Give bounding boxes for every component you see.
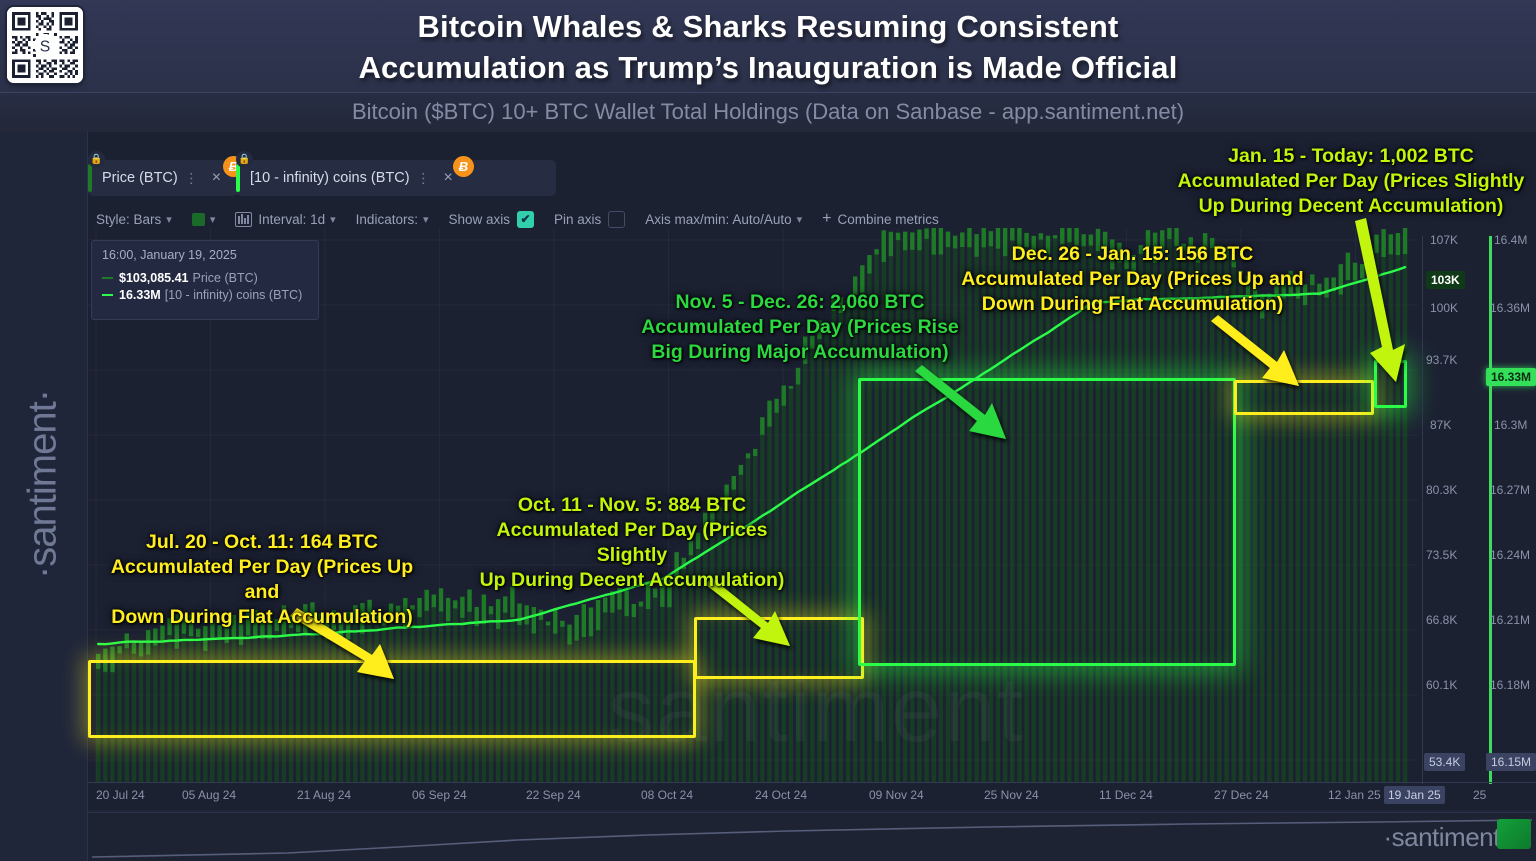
metric-current-value: 16.33M [1486, 368, 1536, 386]
tab-10-infinity-coins[interactable]: 🔒 [10 - infinity) coins (BTC) … × [236, 160, 556, 196]
price-tick: 93.7K [1426, 353, 1457, 367]
x-tick-highlight: 19 Jan 25 [1384, 786, 1445, 804]
tooltip-date: 16:00, January 19, 2025 [102, 248, 308, 262]
x-tick: 21 Aug 24 [297, 788, 351, 802]
show-axis-toggle[interactable]: Show axis ✔ [448, 211, 534, 228]
x-tick: 27 Dec 24 [1214, 788, 1269, 802]
combine-metrics-button[interactable]: + Combine metrics [822, 210, 939, 228]
annotation-jan-today: Jan. 15 - Today: 1,002 BTC Accumulated P… [1176, 144, 1526, 219]
metric-tick: 16.21M [1490, 613, 1530, 627]
tab-close-icon[interactable]: × [444, 169, 453, 187]
brush-sparkline [88, 813, 1536, 861]
x-tick: 20 Jul 24 [96, 788, 145, 802]
color-selector[interactable]: ▾ [192, 213, 216, 226]
chevron-down-icon: ▾ [210, 213, 216, 226]
price-tick: 66.8K [1426, 613, 1457, 627]
price-axis[interactable]: 107K 103K 100K 93.7K 87K 80.3K 73.5K 66.… [1424, 228, 1472, 788]
metric-tick: 16.3M [1494, 418, 1527, 432]
x-tick: 06 Sep 24 [412, 788, 467, 802]
tab-label: Price (BTC) [102, 170, 178, 186]
style-selector[interactable]: Style: Bars ▾ [96, 212, 172, 227]
metric-axis-min: 16.15M [1486, 753, 1536, 771]
x-axis[interactable]: 20 Jul 24 05 Aug 24 21 Aug 24 06 Sep 24 … [88, 782, 1536, 810]
highlight-box-jan-today [1374, 360, 1407, 408]
show-axis-label: Show axis [448, 212, 510, 227]
metric-tick: 16.4M [1494, 233, 1527, 247]
x-tick: 05 Aug 24 [182, 788, 236, 802]
tab-label: [10 - infinity) coins (BTC) [250, 170, 410, 186]
tooltip-value: $103,085.41 [119, 271, 189, 285]
price-tick: 60.1K [1426, 678, 1457, 692]
tab-color-stripe [236, 164, 240, 192]
price-tick: 73.5K [1426, 548, 1457, 562]
metric-tick: 16.18M [1490, 678, 1530, 692]
price-axis-min: 53.4K [1424, 753, 1465, 771]
metric-axis[interactable]: 16.4M 16.36M 16.33M 16.3M 16.27M 16.24M … [1482, 228, 1536, 788]
range-brush[interactable] [88, 812, 1536, 861]
metric-tick: 16.24M [1490, 548, 1530, 562]
chart-toolbar: Style: Bars ▾ ▾ Interval: 1d ▾ Indicator… [96, 208, 959, 230]
chevron-down-icon: ▾ [166, 213, 172, 226]
highlight-box-nov-dec [858, 378, 1236, 666]
tooltip-value: 16.33M [119, 288, 161, 302]
price-axis-line [1422, 236, 1423, 784]
tooltip-series-name: Price (BTC) [193, 271, 258, 285]
tab-close-icon[interactable]: × [212, 169, 221, 187]
annotation-dec-jan: Dec. 26 - Jan. 15: 156 BTC Accumulated P… [960, 242, 1305, 317]
price-current-value: 103K [1426, 271, 1465, 289]
x-tick: 12 Jan 25 [1328, 788, 1381, 802]
metric-tick: 16.36M [1490, 301, 1530, 315]
pin-axis-toggle[interactable]: Pin axis [554, 211, 625, 228]
page-title-line2: Accumulation as Trump’s Inauguration is … [0, 47, 1536, 88]
chevron-down-icon: ▾ [330, 213, 336, 226]
left-rail: ·santiment· [0, 132, 88, 861]
metric-tick: 16.27M [1490, 483, 1530, 497]
annotation-jul-oct: Jul. 20 - Oct. 11: 164 BTC Accumulated P… [92, 530, 432, 630]
highlight-box-oct-nov [694, 617, 864, 679]
interval-selector[interactable]: Interval: 1d ▾ [235, 212, 335, 227]
color-swatch-icon [192, 213, 205, 226]
checkbox-checked-icon[interactable]: ✔ [517, 211, 534, 228]
highlight-box-dec-jan [1234, 380, 1374, 415]
x-tick-trailing: 25 [1473, 788, 1486, 802]
tab-price-btc[interactable]: 🔒 Price (BTC) … × [88, 160, 238, 196]
plus-icon: + [822, 210, 831, 228]
x-tick: 25 Nov 24 [984, 788, 1039, 802]
series-color-dash [102, 294, 113, 296]
bar-chart-icon [235, 212, 252, 227]
santiment-watermark-left: ·santiment· [21, 320, 66, 650]
axis-minmax-label: Axis max/min: Auto/Auto [645, 212, 791, 227]
indicators-selector[interactable]: Indicators: ▾ [356, 212, 429, 227]
x-tick: 22 Sep 24 [526, 788, 581, 802]
indicators-label: Indicators: [356, 212, 418, 227]
screenshot-root: Bitcoin Whales & Sharks Resuming Consist… [0, 0, 1536, 861]
chevron-down-icon: ▾ [423, 213, 429, 226]
price-tick: 100K [1430, 301, 1458, 315]
lock-icon: 🔒 [88, 151, 105, 168]
svg-text:S: S [40, 39, 50, 56]
qr-code-icon[interactable]: S [7, 7, 83, 83]
interval-label: Interval: 1d [258, 212, 325, 227]
chevron-down-icon: ▾ [797, 213, 803, 226]
page-title-line1: Bitcoin Whales & Sharks Resuming Consist… [0, 6, 1536, 47]
price-tick: 87K [1430, 418, 1451, 432]
tooltip-series-name: [10 - infinity) coins (BTC) [165, 288, 303, 302]
price-tick: 80.3K [1426, 483, 1457, 497]
x-tick: 11 Dec 24 [1099, 788, 1153, 802]
lock-icon: 🔒 [236, 151, 253, 168]
style-selector-label: Style: Bars [96, 212, 161, 227]
price-tick: 107K [1430, 233, 1458, 247]
pin-axis-label: Pin axis [554, 212, 601, 227]
bitcoin-badge-icon: Ƀ [453, 156, 474, 177]
page-subtitle: Bitcoin ($BTC) 10+ BTC Wallet Total Hold… [0, 96, 1536, 128]
highlight-box-jul-oct [88, 660, 696, 738]
santiment-footer-logo: ·santiment· [1383, 822, 1508, 853]
tooltip-row-price: $103,085.41 Price (BTC) [102, 271, 308, 285]
tab-color-stripe [88, 164, 92, 192]
combine-metrics-label: Combine metrics [837, 212, 938, 227]
annotation-oct-nov: Oct. 11 - Nov. 5: 884 BTC Accumulated Pe… [462, 493, 802, 593]
x-tick: 09 Nov 24 [869, 788, 924, 802]
tab-menu-icon[interactable]: … [190, 171, 200, 185]
x-tick: 24 Oct 24 [755, 788, 807, 802]
tab-menu-icon[interactable]: … [422, 171, 432, 185]
page-title: Bitcoin Whales & Sharks Resuming Consist… [0, 6, 1536, 88]
checkbox-unchecked-icon[interactable] [608, 211, 625, 228]
x-tick: 08 Oct 24 [641, 788, 693, 802]
axis-minmax-selector[interactable]: Axis max/min: Auto/Auto ▾ [645, 212, 802, 227]
tooltip-row-metric: 16.33M [10 - infinity) coins (BTC) [102, 288, 308, 302]
santiment-footer-chip-icon [1497, 819, 1531, 849]
hover-tooltip: 16:00, January 19, 2025 $103,085.41 Pric… [91, 240, 319, 320]
annotation-nov-dec: Nov. 5 - Dec. 26: 2,060 BTC Accumulated … [630, 290, 970, 365]
series-color-dash [102, 277, 113, 279]
